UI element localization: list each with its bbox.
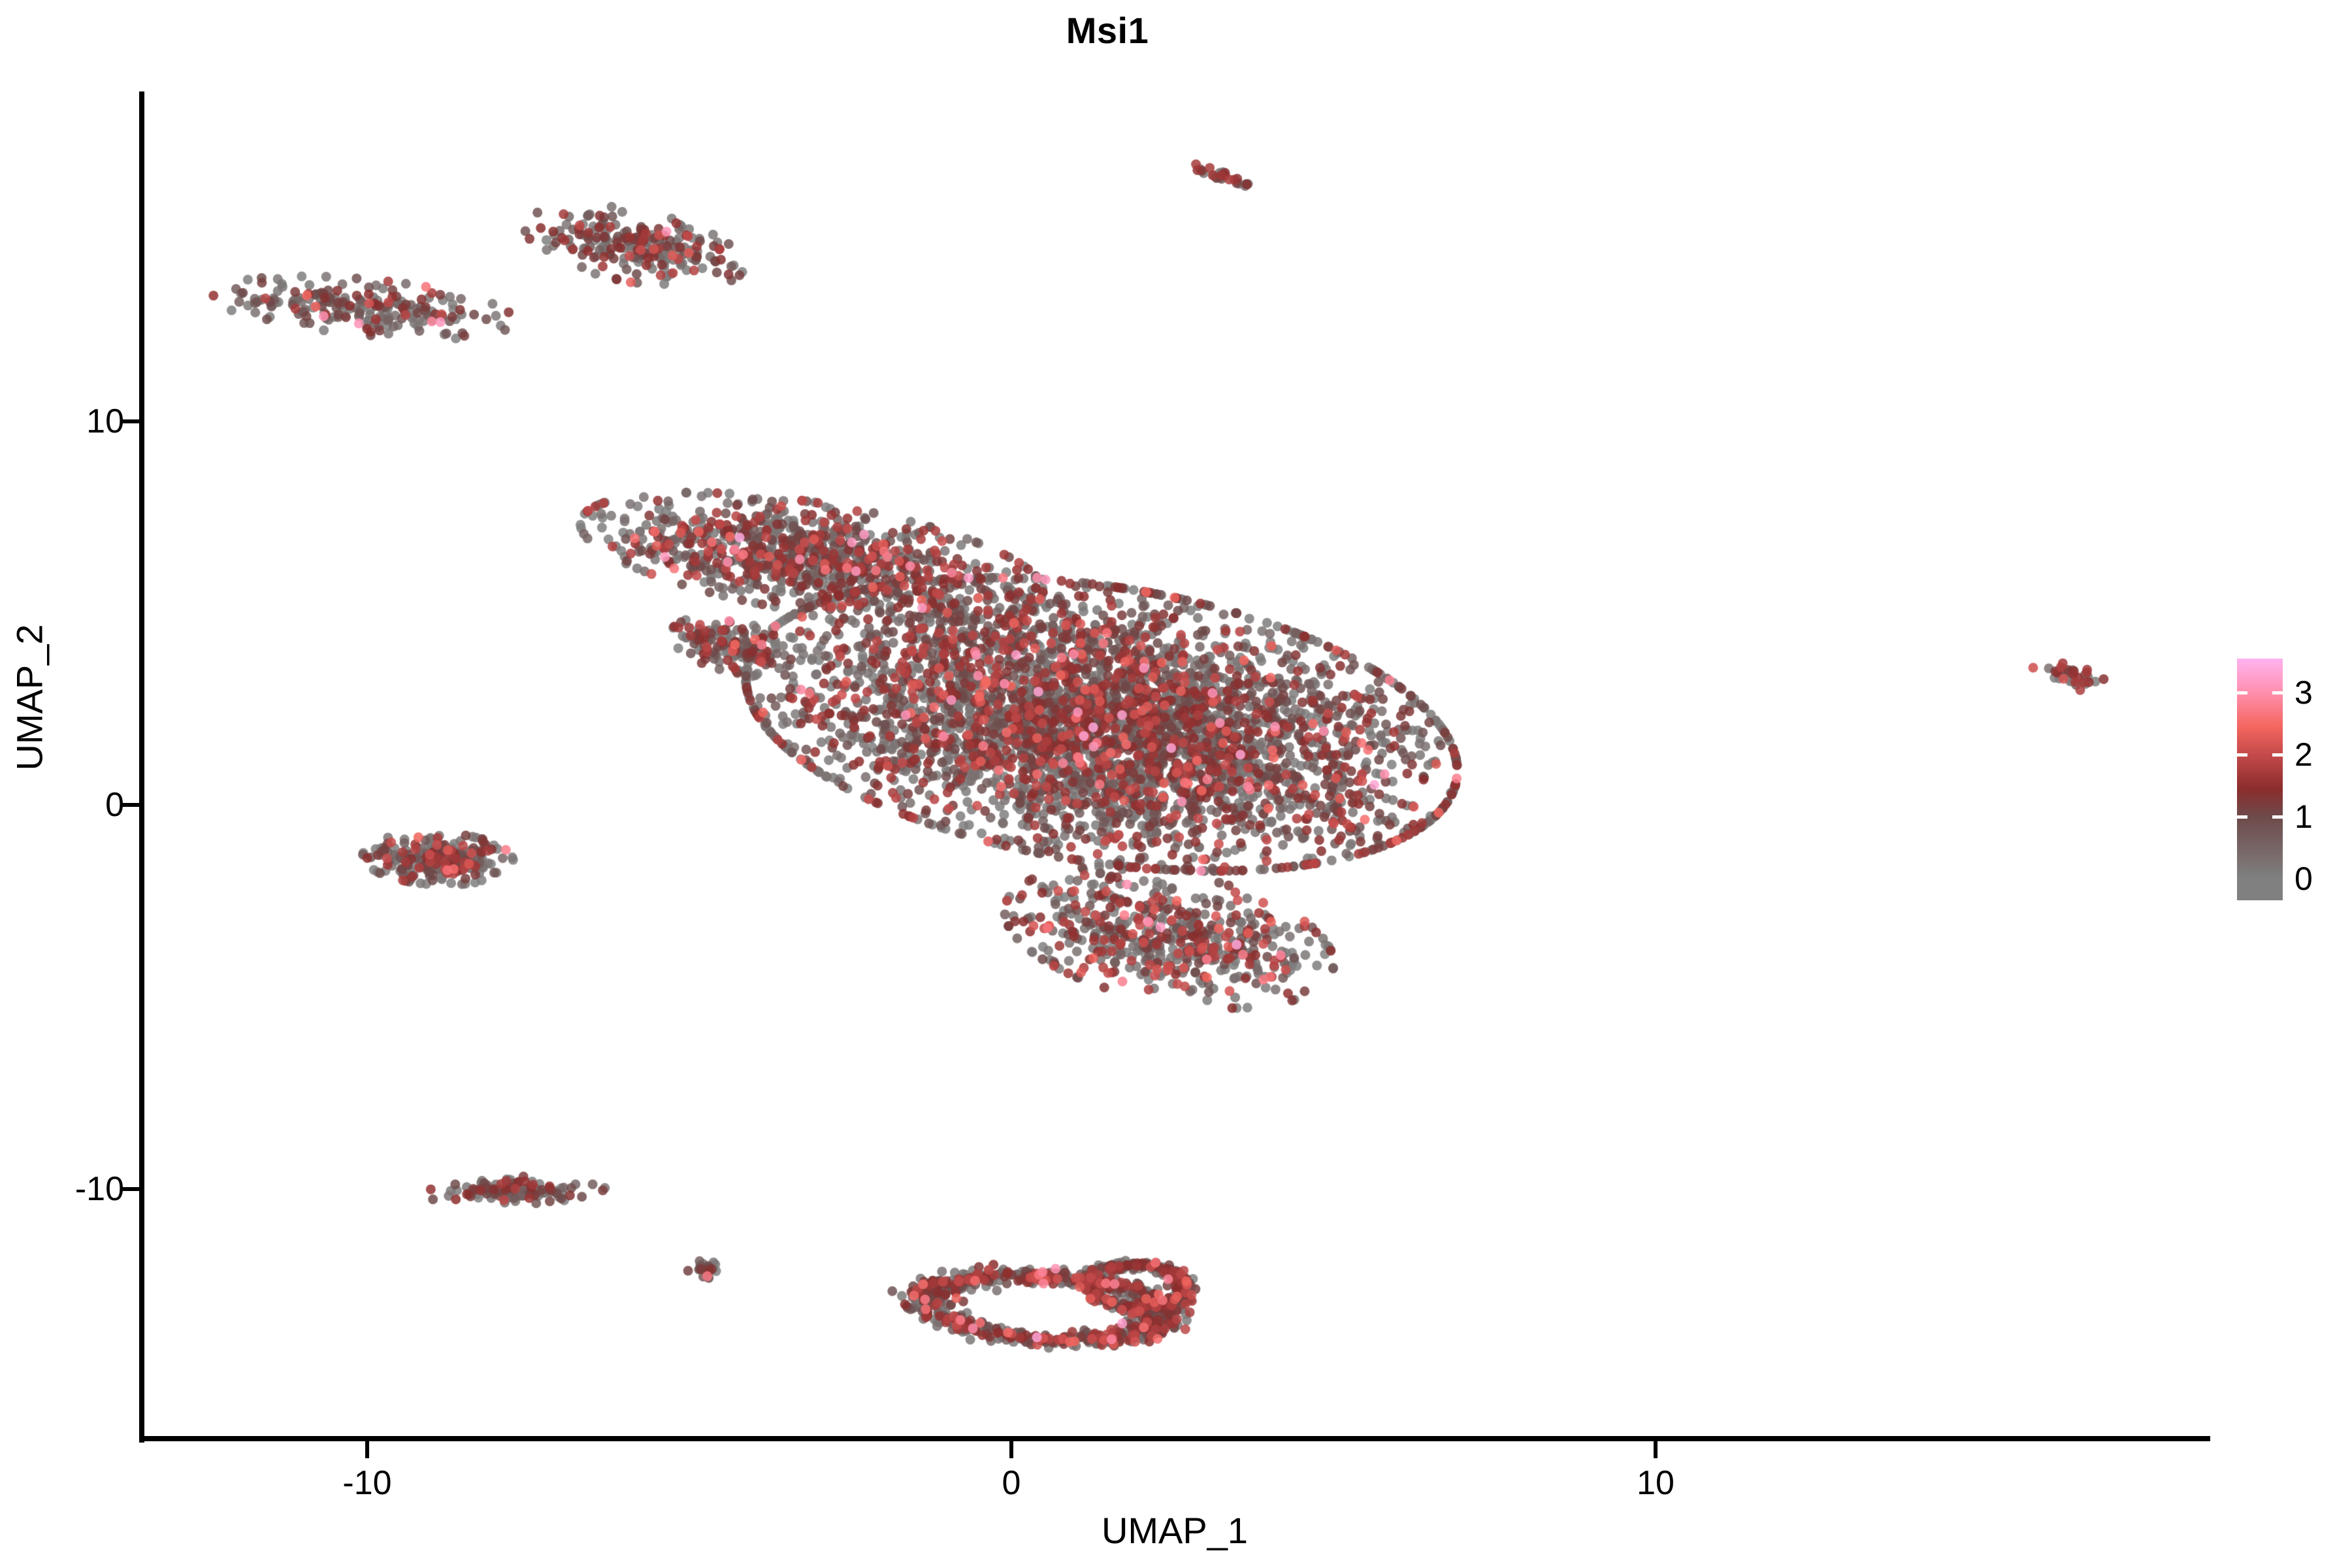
x-tick-mark [1654,1441,1658,1458]
colorbar-label: 1 [2295,798,2313,836]
colorbar-label: 0 [2295,860,2313,898]
scatter-points-layer [144,91,2182,1439]
plot-panel [144,91,2182,1439]
y-axis-line [139,91,144,1443]
colorbar-label: 2 [2295,736,2313,774]
colorbar-tick [2272,691,2283,694]
colorbar-tick [2237,691,2247,694]
colorbar-label: 3 [2295,674,2313,711]
x-axis-title: UMAP_1 [139,1509,2210,1552]
y-tick-mark [122,803,139,807]
colorbar-gradient [2237,659,2283,900]
x-tick-label: 10 [1637,1463,1674,1503]
y-tick-mark [122,1187,139,1191]
x-tick-label: -10 [342,1463,391,1503]
y-tick-mark [122,419,139,423]
x-tick-label: 0 [1002,1463,1021,1503]
umap-feature-plot: Msi1 -10010 -10010 UMAP_1 UMAP_2 0123 [0,0,2352,1568]
colorbar-tick [2272,753,2283,757]
x-axis-line [139,1436,2210,1441]
colorbar-tick [2237,753,2247,757]
colorbar-tick [2237,815,2247,819]
x-tick-mark [365,1441,369,1458]
y-tick-label: -10 [75,1169,124,1209]
page-title: Msi1 [0,9,2215,52]
y-axis-title: UMAP_2 [8,502,51,894]
y-tick-label: 10 [86,402,124,441]
x-tick-mark [1009,1441,1013,1458]
y-tick-label: 0 [105,785,124,825]
colorbar-tick [2272,815,2283,819]
colorbar-legend: 0123 [2237,659,2342,907]
